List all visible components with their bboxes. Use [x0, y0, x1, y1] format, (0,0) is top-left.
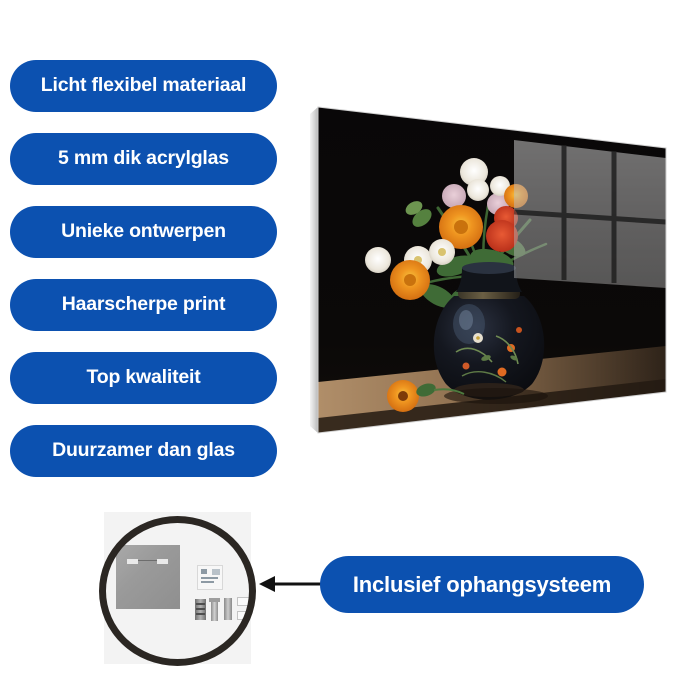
acrylic-edge-thickness	[310, 107, 318, 433]
feature-badge-duurzamer-dan-glas[interactable]: Duurzamer dan glas	[10, 425, 277, 477]
feature-badge-label: 5 mm dik acrylglas	[58, 149, 229, 169]
hanging-system-inset	[99, 516, 256, 666]
hanging-system-callout-label: Inclusief ophangsysteem	[353, 574, 611, 596]
acrylic-print-artwork	[306, 100, 678, 445]
feature-badge-label: Duurzamer dan glas	[52, 441, 235, 461]
feature-badge-label: Licht flexibel materiaal	[41, 76, 246, 96]
feature-badge-5-mm-dik-acrylglas[interactable]: 5 mm dik acrylglas	[10, 133, 277, 185]
feature-badge-haarscherpe-print[interactable]: Haarscherpe print	[10, 279, 277, 331]
vase-shadow	[444, 388, 548, 404]
artwork-scene	[306, 100, 678, 445]
feature-badge-label: Unieke ontwerpen	[61, 222, 226, 242]
hanging-system-callout-badge[interactable]: Inclusief ophangsysteem	[320, 556, 644, 613]
feature-badge-unieke-ontwerpen[interactable]: Unieke ontwerpen	[10, 206, 277, 258]
feature-badge-licht-flexibel-materiaal[interactable]: Licht flexibel materiaal	[10, 60, 277, 112]
feature-badge-top-kwaliteit[interactable]: Top kwaliteit	[10, 352, 277, 404]
feature-badge-list: Licht flexibel materiaal 5 mm dik acrylg…	[10, 60, 277, 498]
feature-badge-label: Top kwaliteit	[86, 368, 200, 388]
window-reflection	[514, 140, 666, 288]
inset-circle-ring	[99, 516, 256, 666]
feature-badge-label: Haarscherpe print	[62, 295, 226, 315]
artwork-illustration	[306, 100, 678, 445]
